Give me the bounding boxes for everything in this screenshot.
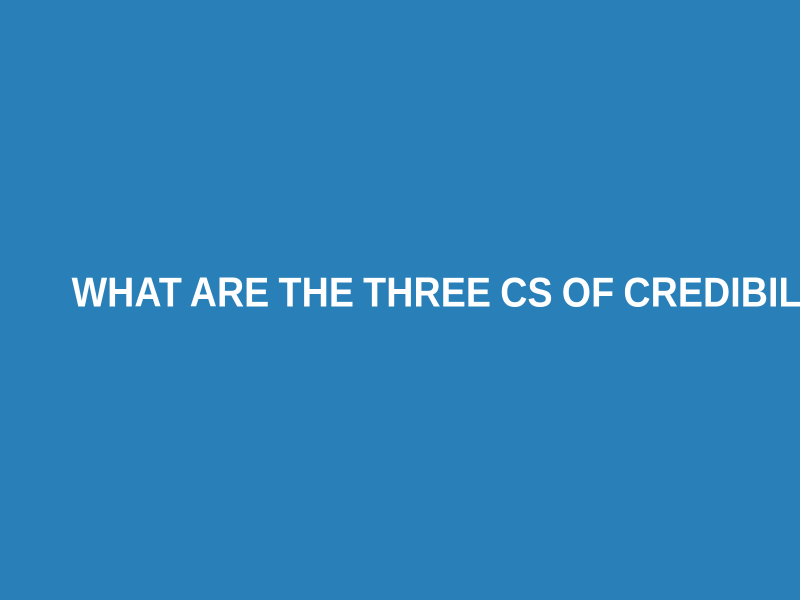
- article-title-banner: WHAT ARE THE THREE CS OF CREDIBILITY?: [0, 0, 800, 600]
- page-title: WHAT ARE THE THREE CS OF CREDIBILITY?: [72, 272, 800, 315]
- headline-container: WHAT ARE THE THREE CS OF CREDIBILITY?: [0, 272, 800, 315]
